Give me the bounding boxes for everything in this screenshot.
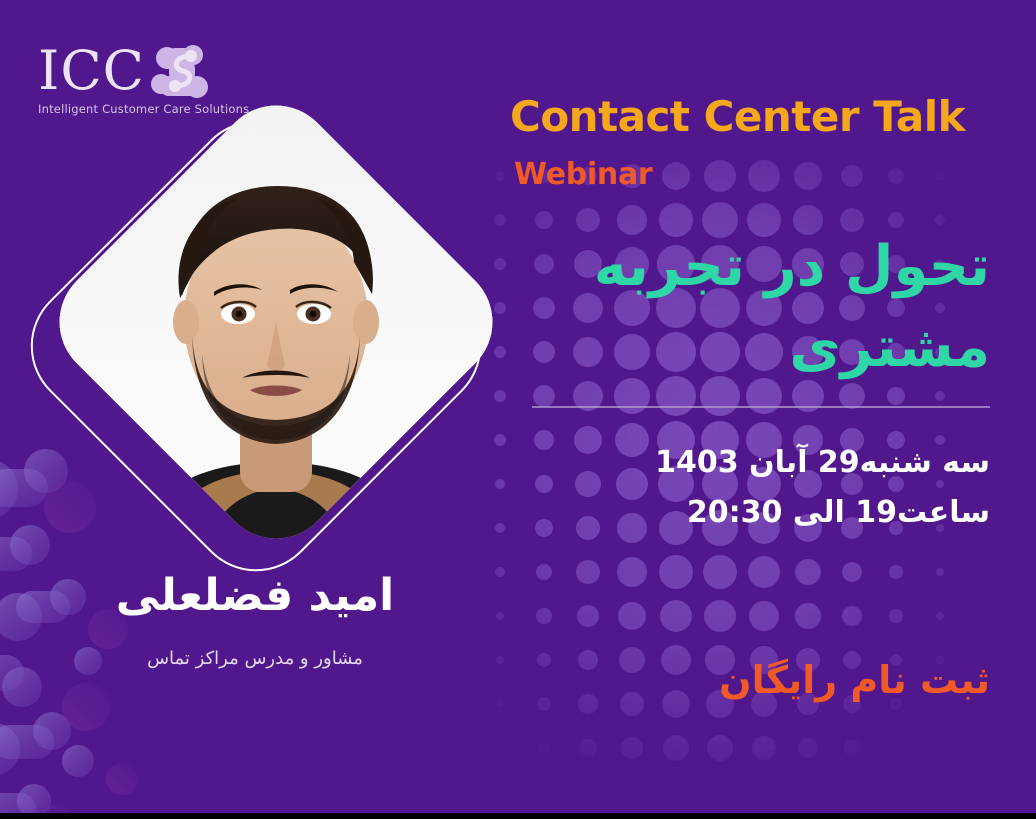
logo-lockup: ICC [38,42,223,100]
right-content-column: Contact Center Talk Webinar تحول در تجرب… [500,0,1036,819]
iccs-logo: ICC [38,42,223,116]
logo-wordmark: ICC [38,44,145,98]
logo-tagline: Intelligent Customer Care Solutions [38,102,223,116]
photo-diamond-frame [36,82,517,563]
speaker-info: امید فضلعلی مشاور و مدرس مراکز تماس [40,570,470,670]
bottom-strip [0,813,1036,819]
page-title: Contact Center Talk [510,92,965,141]
webinar-poster: ICC [0,0,1036,819]
headline-persian: تحول در تجربه مشتری [550,226,990,388]
speaker-photo [92,152,464,524]
event-type-label: Webinar [514,157,652,192]
event-datetime: سه شنبه29 آبان 1403 ساعت19 الی 20:30 [550,438,990,537]
event-date: سه شنبه29 آبان 1403 [550,438,990,488]
registration-cta[interactable]: ثبت نام رایگان [550,658,990,704]
speaker-name: امید فضلعلی [40,570,470,623]
divider [532,406,990,408]
speaker-portrait-image [36,82,516,562]
event-time: ساعت19 الی 20:30 [550,488,990,538]
speaker-role: مشاور و مدرس مراکز تماس [40,647,470,670]
iccs-molecule-mark-icon [147,42,217,100]
